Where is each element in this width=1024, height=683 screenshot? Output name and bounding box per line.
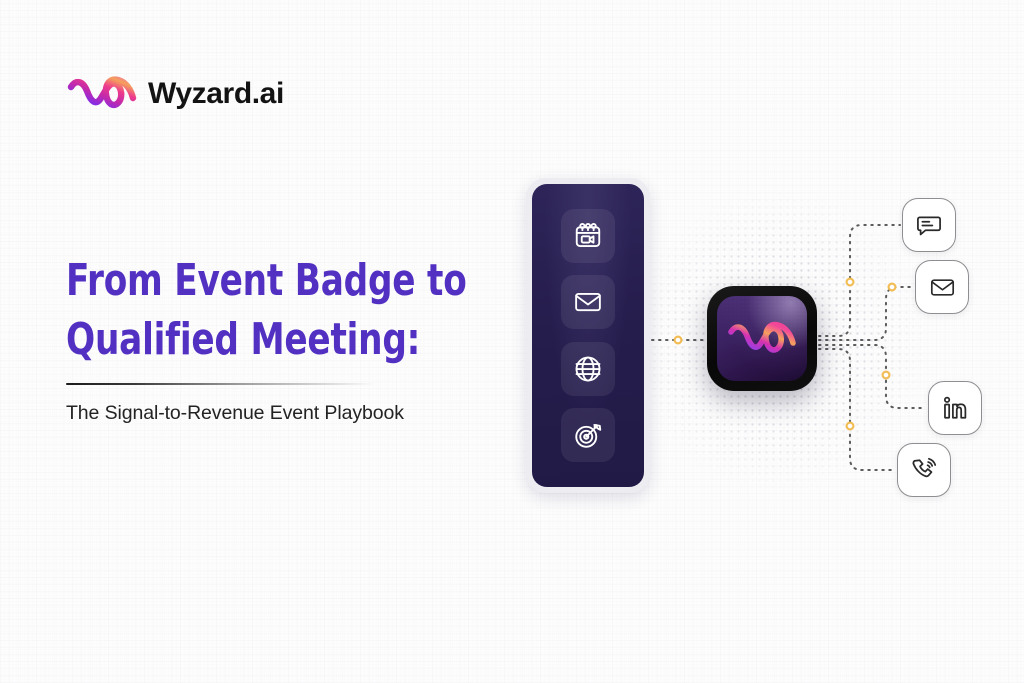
output-tile-linkedin[interactable] xyxy=(928,381,982,435)
hub-app-tile[interactable] xyxy=(707,286,817,391)
wire-node-mail xyxy=(889,284,896,291)
page-title-line-1: From Event Badge to xyxy=(66,252,378,311)
slide-canvas: Wyzard.ai From Event Badge to Qualified … xyxy=(0,0,1024,683)
wire-node-chat xyxy=(847,279,854,286)
page-title: From Event Badge to Qualified Meeting: xyxy=(66,252,378,369)
calendar-video-icon xyxy=(573,221,603,251)
output-tile-chat[interactable] xyxy=(902,198,956,252)
source-tile-web[interactable] xyxy=(561,342,615,396)
output-tile-email[interactable] xyxy=(915,260,969,314)
brand-name-label: Wyzard.ai xyxy=(148,79,284,109)
target-dart-icon xyxy=(573,420,603,450)
chat-bubble-icon xyxy=(915,211,943,239)
wire-hub-to-chat xyxy=(819,225,900,336)
wire-hub-to-phone xyxy=(819,349,895,470)
wire-node-inbound xyxy=(675,337,682,344)
wyzard-wave-logo-icon xyxy=(66,72,138,116)
wire-hub-to-mail xyxy=(819,287,913,340)
globe-icon xyxy=(573,354,603,384)
headline-block: From Event Badge to Qualified Meeting: T… xyxy=(66,252,466,425)
title-divider xyxy=(66,383,376,385)
source-tile-campaign[interactable] xyxy=(561,408,615,462)
linkedin-icon xyxy=(941,394,969,422)
wire-hub-to-linkedin xyxy=(819,345,926,408)
phone-ring-icon xyxy=(910,456,938,484)
page-title-line-2: Qualified Meeting: xyxy=(66,311,378,370)
envelope-icon xyxy=(573,287,603,317)
wire-node-phone xyxy=(847,423,854,430)
flow-diagram xyxy=(500,160,1024,530)
wire-node-linkedin xyxy=(883,372,890,379)
page-subtitle: The Signal-to-Revenue Event Playbook xyxy=(66,401,466,425)
wyzard-wave-logo-icon xyxy=(726,317,798,361)
source-channels-panel xyxy=(526,178,650,493)
brand-logo[interactable]: Wyzard.ai xyxy=(66,72,284,116)
source-tile-webinar[interactable] xyxy=(561,209,615,263)
envelope-icon xyxy=(929,274,956,301)
source-tile-email[interactable] xyxy=(561,275,615,329)
output-tile-phone[interactable] xyxy=(897,443,951,497)
